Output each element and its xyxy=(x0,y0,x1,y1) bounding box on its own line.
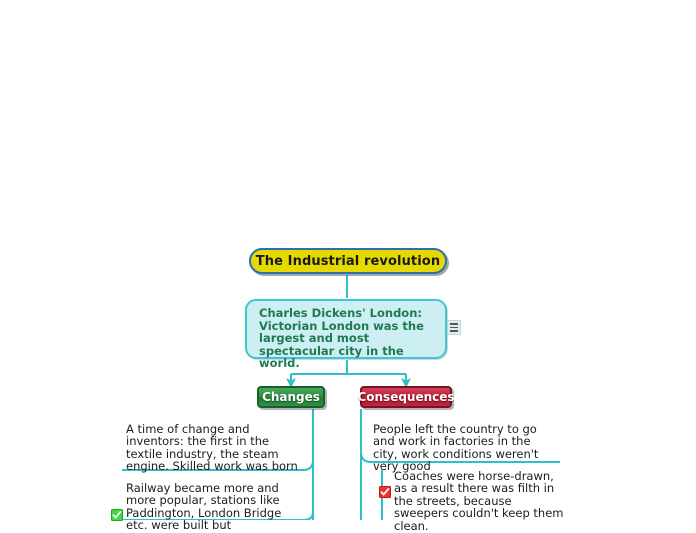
leaf-consequences-1-label: People left the country to go and work i… xyxy=(373,423,557,473)
leaf-changes-2[interactable]: Railway became more and more popular, st… xyxy=(126,482,304,532)
note-icon-line xyxy=(450,327,458,329)
node-branch-changes-label: Changes xyxy=(262,390,320,404)
leaf-changes-1[interactable]: A time of change and inventors: the firs… xyxy=(126,423,302,473)
node-branch-changes[interactable]: Changes xyxy=(257,386,325,408)
hamburger-note-icon[interactable] xyxy=(447,320,461,335)
node-root[interactable]: The Industrial revolution xyxy=(249,248,447,274)
check-green-glyph xyxy=(111,509,123,521)
leaf-consequences-2[interactable]: Coaches were horse-drawn, as a result th… xyxy=(394,470,564,532)
leaf-consequences-2-label: Coaches were horse-drawn, as a result th… xyxy=(394,470,564,532)
mindmap-canvas: The Industrial revolution Charles Dicken… xyxy=(0,0,696,520)
node-summary[interactable]: Charles Dickens' London: Victorian Londo… xyxy=(245,299,447,359)
node-branch-consequences-label: Consequences xyxy=(357,390,454,404)
leaf-changes-1-label: A time of change and inventors: the firs… xyxy=(126,423,302,473)
node-summary-label: Charles Dickens' London: Victorian Londo… xyxy=(259,307,436,370)
check-green-icon[interactable] xyxy=(111,509,123,521)
note-icon-line xyxy=(450,330,458,332)
check-red-glyph xyxy=(379,486,391,498)
node-branch-consequences[interactable]: Consequences xyxy=(360,386,452,408)
check-red-icon[interactable] xyxy=(379,486,391,498)
node-root-label: The Industrial revolution xyxy=(256,254,440,269)
note-icon-line xyxy=(450,323,458,325)
leaf-consequences-1[interactable]: People left the country to go and work i… xyxy=(373,423,557,473)
leaf-changes-2-label: Railway became more and more popular, st… xyxy=(126,482,304,532)
